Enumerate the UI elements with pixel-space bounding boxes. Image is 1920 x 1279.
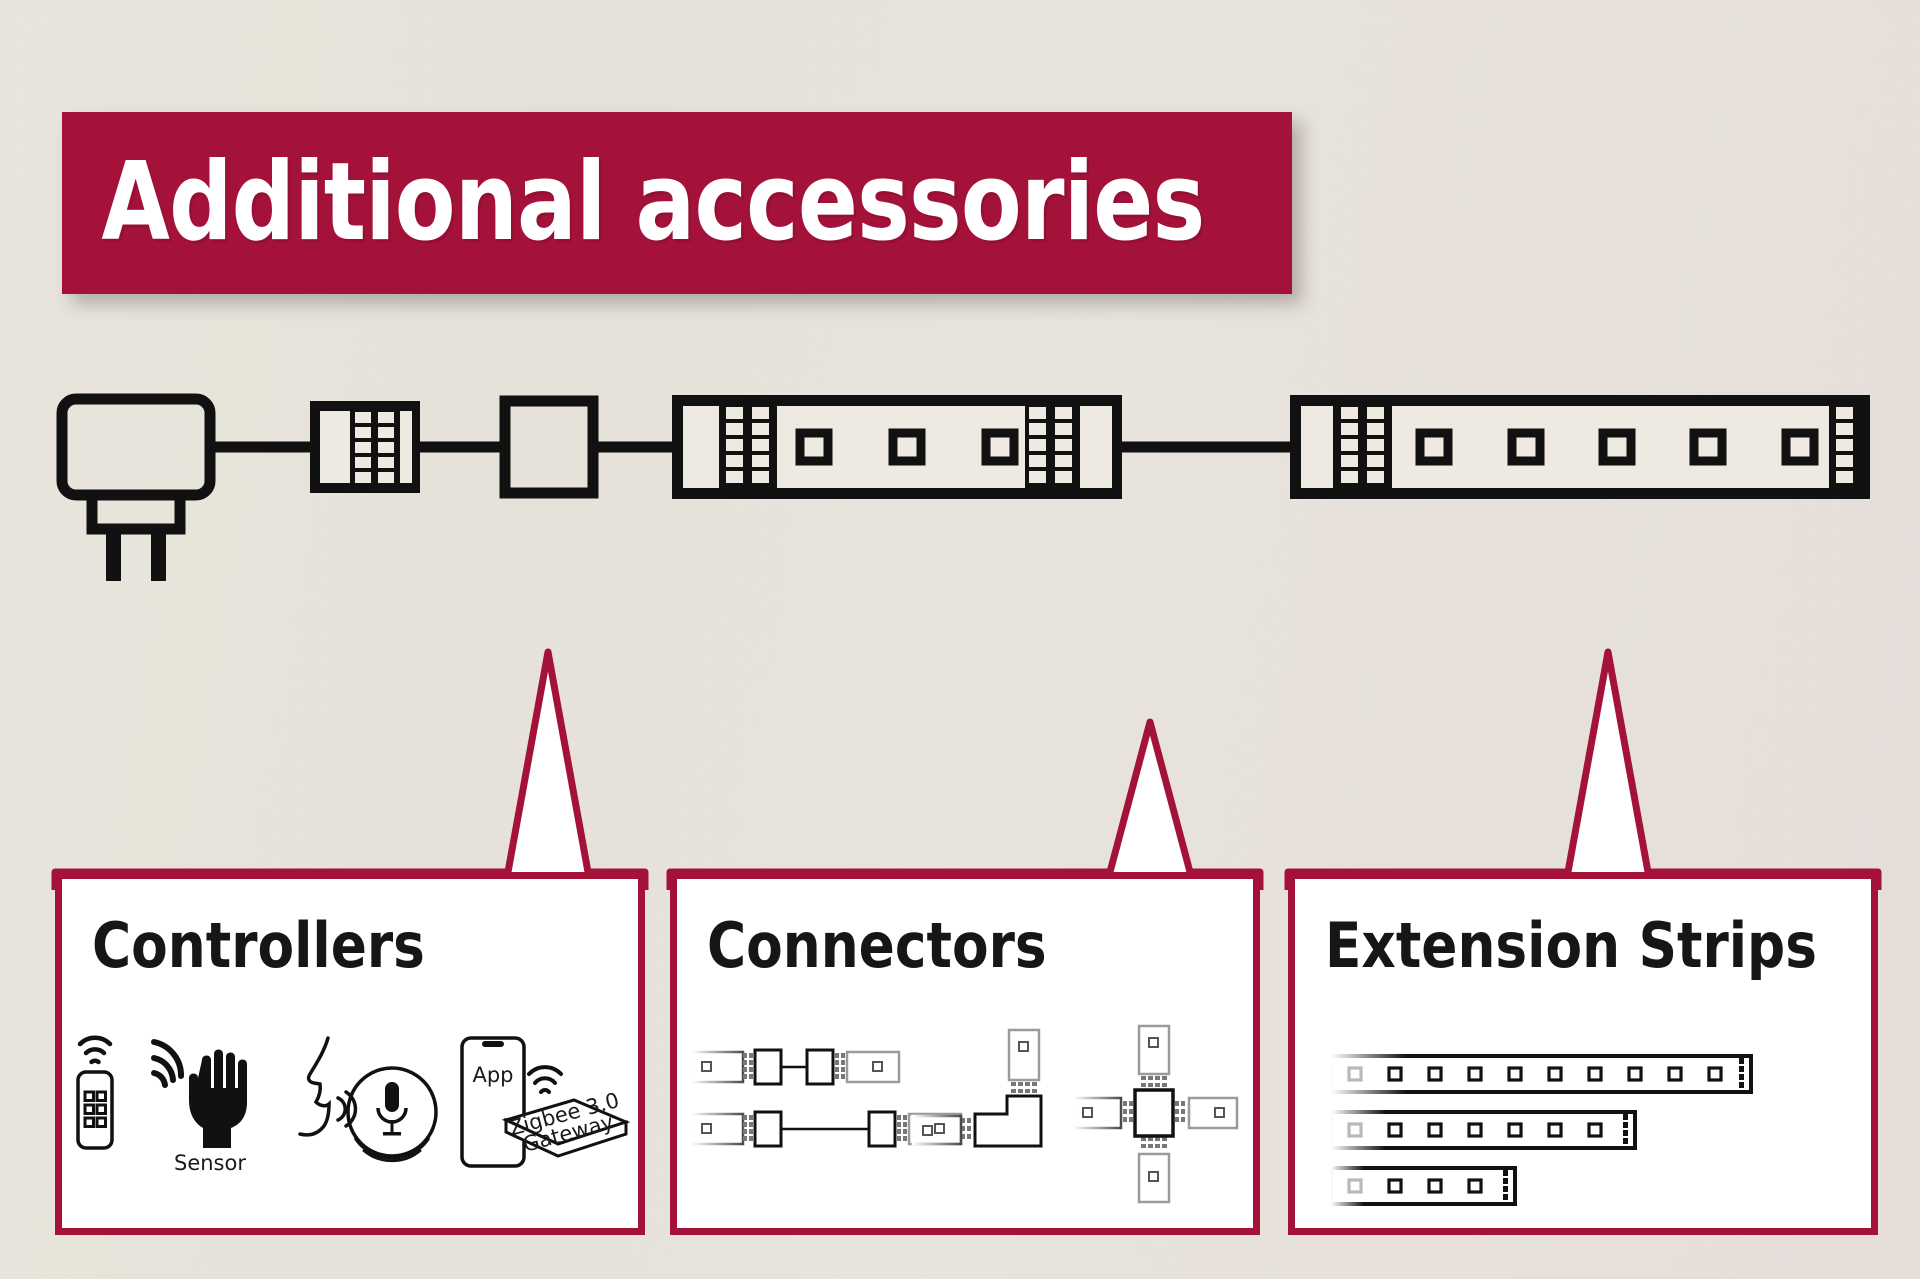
connectors-icon-row xyxy=(677,1020,1253,1210)
card-connectors[interactable]: Connectors xyxy=(670,872,1260,1235)
power-supply-icon xyxy=(62,399,210,581)
controller-box-icon xyxy=(505,401,593,493)
page-title: Additional accessories xyxy=(62,149,1204,257)
card-title-connectors: Connectors xyxy=(707,915,1177,977)
sensor-label: Sensor xyxy=(174,1151,246,1175)
card-controllers[interactable]: Controllers xyxy=(55,872,645,1235)
hand-glyph xyxy=(189,1050,247,1149)
title-banner: Additional accessories xyxy=(62,112,1292,294)
smartphone-app-icon: App xyxy=(462,1038,524,1166)
x-cross-body xyxy=(1135,1090,1173,1136)
callout-extensions xyxy=(1288,652,1878,890)
extension-strip-short-icon xyxy=(1331,1168,1515,1204)
controllers-icon-row: Sensor App xyxy=(62,1020,638,1210)
voice-assistant-icon xyxy=(300,1038,436,1161)
short-jumper-connector-icon xyxy=(691,1050,899,1084)
l-corner-body xyxy=(975,1096,1041,1146)
remote-control-icon xyxy=(78,1038,112,1148)
led-strip-2-icon xyxy=(1290,395,1870,499)
card-title-extensions: Extension Strips xyxy=(1325,915,1795,977)
hand-sensor-icon: Sensor xyxy=(154,1042,247,1175)
microphone-glyph xyxy=(378,1082,406,1136)
x-cross-connector-icon xyxy=(1073,1026,1237,1202)
extension-strip-long-icon xyxy=(1331,1056,1751,1092)
led-strip-1-icon xyxy=(672,395,1122,499)
app-label: App xyxy=(472,1063,513,1087)
extension-strips-icon-row xyxy=(1295,1020,1871,1210)
l-corner-connector-icon xyxy=(913,1030,1041,1146)
led-strip-system-diagram xyxy=(0,390,1920,650)
extension-strip-medium-icon xyxy=(1331,1112,1635,1148)
card-title-controllers: Controllers xyxy=(92,915,562,977)
card-extensions[interactable]: Extension Strips xyxy=(1288,872,1878,1235)
callout-connectors xyxy=(670,722,1260,890)
strip-connector-icon xyxy=(310,401,420,493)
callout-controllers xyxy=(55,652,645,890)
face-profile-glyph xyxy=(300,1038,329,1135)
